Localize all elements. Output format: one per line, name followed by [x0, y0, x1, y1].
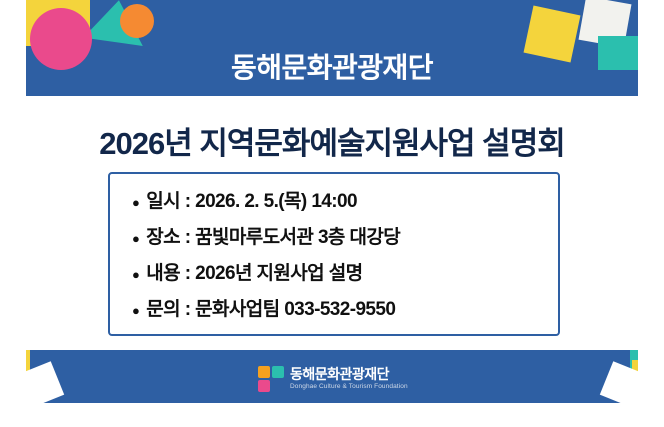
- bullet-icon: ●: [132, 229, 139, 248]
- logo-label-en: Donghae Culture & Tourism Foundation: [290, 382, 408, 391]
- foundation-logo: 동해문화관광재단 Donghae Culture & Tourism Found…: [258, 366, 408, 392]
- list-item: ● 일시 : 2026. 2. 5.(목) 14:00: [132, 186, 552, 213]
- bullet-icon: ●: [132, 301, 139, 320]
- announcement-card: 2026년 지역문화예술지원사업 설명회 ● 일시 : 2026. 2. 5.(…: [22, 96, 642, 350]
- logo-squares-icon: [258, 366, 284, 392]
- list-item-label: 내용 : 2026년 지원사업 설명: [146, 258, 362, 285]
- list-item: ● 장소 : 꿈빛마루도서관 3층 대강당: [132, 222, 552, 249]
- list-item-label: 장소 : 꿈빛마루도서관 3층 대강당: [146, 222, 400, 249]
- logo-label-ko: 동해문화관광재단: [290, 367, 408, 382]
- page-title: 2026년 지역문화예술지원사업 설명회: [22, 118, 642, 163]
- poster-content: 동해문화관광재단 2026년 지역문화예술지원사업 설명회 ● 일시 : 202…: [0, 0, 664, 427]
- organization-title: 동해문화관광재단: [0, 46, 664, 86]
- info-box: ● 일시 : 2026. 2. 5.(목) 14:00 ● 장소 : 꿈빛마루도…: [108, 172, 560, 336]
- list-item-label: 일시 : 2026. 2. 5.(목) 14:00: [146, 186, 357, 213]
- bullet-icon: ●: [132, 265, 139, 284]
- info-list: ● 일시 : 2026. 2. 5.(목) 14:00 ● 장소 : 꿈빛마루도…: [132, 186, 552, 330]
- poster-image: 동해문화관광재단 2026년 지역문화예술지원사업 설명회 ● 일시 : 202…: [0, 0, 664, 427]
- bullet-icon: ●: [132, 193, 139, 212]
- poster-footer: 동해문화관광재단 Donghae Culture & Tourism Found…: [0, 358, 664, 406]
- list-item-label: 문의 : 문화사업팀 033-532-9550: [146, 294, 395, 321]
- list-item: ● 문의 : 문화사업팀 033-532-9550: [132, 294, 552, 321]
- list-item: ● 내용 : 2026년 지원사업 설명: [132, 258, 552, 285]
